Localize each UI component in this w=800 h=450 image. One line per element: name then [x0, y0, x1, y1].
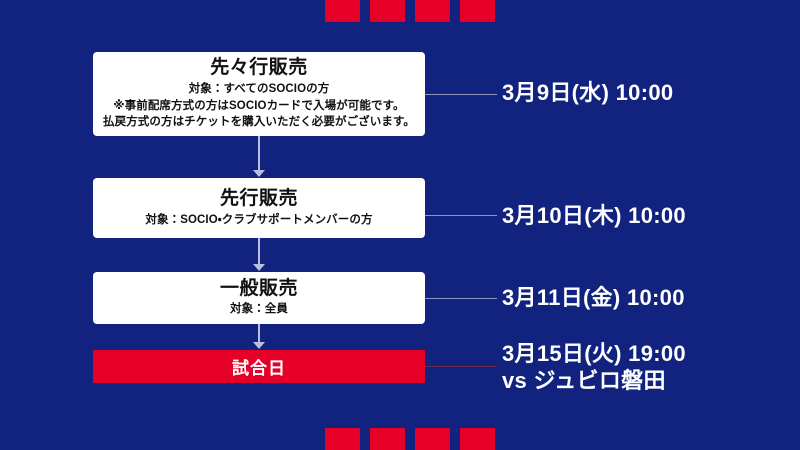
date-text: 3月11日(金) 10:00	[502, 285, 685, 312]
timeline-step-card-ippan-hanbai: 一般販売 対象：全員	[93, 272, 425, 324]
connector-vertical-line	[258, 238, 260, 264]
card-subtitle-line: 払戻方式の方はチケットを購入いただく必要がございます。	[103, 114, 415, 131]
date-text: 3月9日(水) 10:00	[502, 80, 673, 107]
opponent-text: vs ジュビロ磐田	[502, 368, 686, 395]
top-decoration-strip	[0, 0, 800, 22]
connector-vertical-line	[258, 324, 260, 342]
date-label-ippan-hanbai: 3月11日(金) 10:00	[502, 285, 685, 312]
red-square-decoration	[460, 428, 495, 450]
card-title: 一般販売	[220, 278, 298, 300]
red-square-decoration	[370, 428, 405, 450]
bottom-decoration-strip	[0, 428, 800, 450]
connector-horizontal-line	[425, 215, 497, 216]
date-label-match-day: 3月15日(火) 19:00 vs ジュビロ磐田	[502, 341, 686, 395]
card-title: 先行販売	[220, 188, 298, 210]
card-subtitle-line: 対象：SOCIO・クラブサポートメンバーの方	[145, 212, 372, 229]
connector-vertical-line	[258, 136, 260, 170]
red-square-decoration	[415, 428, 450, 450]
match-day-bar: 試合日	[93, 350, 425, 383]
card-subtitle-line: ※事前配席方式の方はSOCIOカードで入場が可能です。	[113, 98, 404, 115]
timeline-step-card-senko-hanbai: 先行販売 対象：SOCIO・クラブサポートメンバーの方	[93, 178, 425, 238]
arrow-down-icon	[253, 264, 265, 271]
date-text: 3月10日(木) 10:00	[502, 203, 686, 230]
red-square-decoration	[370, 0, 405, 22]
date-label-sakisakigyo-hanbai: 3月9日(水) 10:00	[502, 80, 673, 107]
card-subtitle-line: 対象：全員	[230, 301, 288, 318]
card-subtitle-line: 対象：すべてのSOCIOの方	[189, 81, 330, 98]
connector-horizontal-line	[425, 94, 497, 95]
connector-horizontal-line	[425, 298, 497, 299]
poster-canvas: 先々行販売 対象：すべてのSOCIOの方 ※事前配席方式の方はSOCIOカードで…	[0, 0, 800, 450]
connector-horizontal-line	[425, 366, 497, 367]
red-square-decoration	[325, 428, 360, 450]
arrow-down-icon	[253, 342, 265, 349]
red-square-decoration	[460, 0, 495, 22]
card-title: 先々行販売	[210, 57, 308, 79]
date-label-senko-hanbai: 3月10日(木) 10:00	[502, 203, 686, 230]
match-day-label: 試合日	[232, 354, 286, 379]
timeline-step-card-sakisakigyo-hanbai: 先々行販売 対象：すべてのSOCIOの方 ※事前配席方式の方はSOCIOカードで…	[93, 52, 425, 136]
red-square-decoration	[325, 0, 360, 22]
red-square-decoration	[415, 0, 450, 22]
date-text: 3月15日(火) 19:00	[502, 341, 686, 368]
arrow-down-icon	[253, 170, 265, 177]
